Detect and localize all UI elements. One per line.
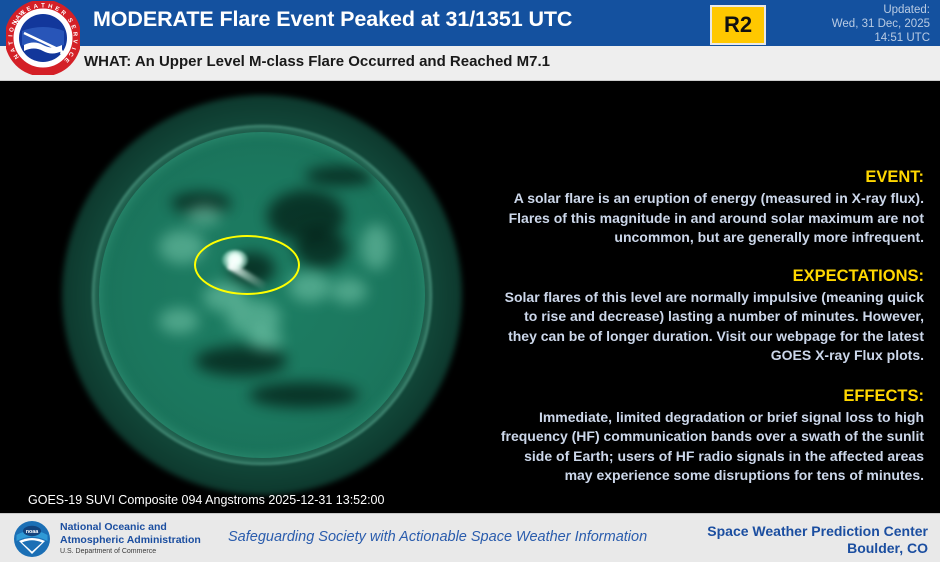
main-content: GOES-19 SUVI Composite 094 Angstroms 202… [0,81,940,513]
nws-seal-icon: N W E A T H E R S E R V I C E N A [6,1,80,75]
agency-department: U.S. Department of Commerce [60,548,156,555]
section-heading: EFFECTS: [500,386,924,406]
updated-date: Wed, 31 Dec, 2025 [832,17,930,31]
spacer [500,248,924,266]
section-body: Immediate, limited degradation or brief … [500,408,924,486]
updated-label: Updated: [832,3,930,17]
updated-time: 14:51 UTC [832,31,930,45]
section-event: EVENT: A solar flare is an eruption of e… [500,167,924,248]
svg-text:T: T [41,3,45,9]
solar-image [57,105,467,485]
image-caption: GOES-19 SUVI Composite 094 Angstroms 202… [28,493,384,507]
section-body: Solar flares of this level are normally … [500,288,924,366]
agency-line-1: National Oceanic and [60,521,201,534]
info-panel: EVENT: A solar flare is an eruption of e… [500,167,924,486]
agency-name: National Oceanic and Atmospheric Adminis… [60,521,201,546]
section-heading: EVENT: [500,167,924,187]
flare-highlight-ellipse [194,235,300,295]
updated-timestamp: Updated: Wed, 31 Dec, 2025 14:51 UTC [832,3,930,45]
footer: noaa National Oceanic and Atmospheric Ad… [0,513,940,562]
space-weather-alert-page: N W E A T H E R S E R V I C E N A [0,0,940,562]
svg-text:noaa: noaa [26,529,40,535]
section-body: A solar flare is an eruption of energy (… [500,189,924,248]
solar-limb [92,125,432,465]
agency-line-2: Atmospheric Administration [60,534,201,547]
footer-tagline: Safeguarding Society with Actionable Spa… [228,529,647,545]
section-heading: EXPECTATIONS: [500,266,924,286]
svg-text:V: V [71,39,77,44]
center-name: Space Weather Prediction Center [707,523,928,540]
section-expectations: EXPECTATIONS: Solar flares of this level… [500,266,924,366]
status-badge: R2 [710,5,766,45]
what-summary: WHAT: An Upper Level M-class Flare Occur… [84,53,550,70]
page-title: MODERATE Flare Event Peaked at 31/1351 U… [93,7,572,32]
prediction-center: Space Weather Prediction Center Boulder,… [707,523,928,557]
noaa-seal-icon: noaa [13,520,51,558]
center-location: Boulder, CO [707,540,928,557]
spacer [500,366,924,386]
section-effects: EFFECTS: Immediate, limited degradation … [500,386,924,486]
